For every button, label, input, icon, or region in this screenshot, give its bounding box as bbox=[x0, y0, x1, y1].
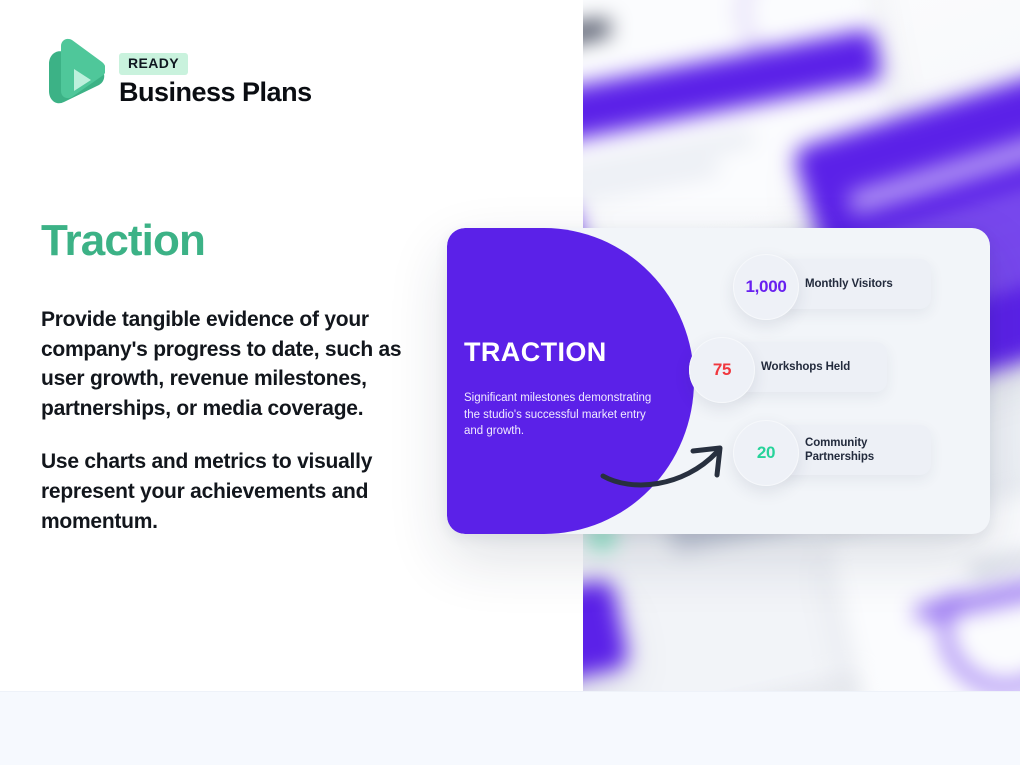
card-title: TRACTION bbox=[464, 338, 674, 366]
metric-label: Community Partnerships bbox=[805, 436, 931, 465]
body-paragraph-1: Provide tangible evidence of your compan… bbox=[41, 305, 433, 423]
bottom-strip bbox=[0, 691, 1020, 765]
metric-pill: Workshops Held bbox=[732, 342, 887, 392]
page-title: Traction bbox=[41, 218, 205, 264]
metric-circle: 20 bbox=[733, 420, 799, 486]
metric-item[interactable]: Workshops Held 75 bbox=[689, 337, 929, 397]
metric-item[interactable]: Monthly Visitors 1,000 bbox=[733, 254, 973, 314]
metrics-list: Monthly Visitors 1,000 Workshops Held 75… bbox=[733, 254, 973, 480]
metric-circle: 75 bbox=[689, 337, 755, 403]
metric-item[interactable]: Community Partnerships 20 bbox=[733, 420, 973, 480]
body-paragraph-2: Use charts and metrics to visually repre… bbox=[41, 447, 433, 536]
curved-arrow-up-right-icon bbox=[597, 418, 742, 498]
brand-lockup: READY Business Plans bbox=[41, 38, 312, 118]
metric-pill: Monthly Visitors bbox=[776, 259, 931, 309]
brand-text: READY Business Plans bbox=[119, 49, 312, 107]
metric-pill: Community Partnerships bbox=[776, 425, 931, 475]
body-copy: Provide tangible evidence of your compan… bbox=[41, 305, 433, 536]
slide-canvas: READY Business Plans Traction Provide ta… bbox=[0, 0, 1020, 765]
brand-title: Business Plans bbox=[119, 78, 312, 108]
metric-label: Monthly Visitors bbox=[805, 277, 893, 291]
play-triangle-logo-icon bbox=[41, 38, 105, 118]
metric-value: 20 bbox=[757, 443, 775, 463]
metric-label: Workshops Held bbox=[761, 360, 850, 374]
traction-card: TRACTION Significant milestones demonstr… bbox=[447, 228, 990, 534]
metric-value: 1,000 bbox=[745, 277, 786, 297]
metric-value: 75 bbox=[713, 360, 731, 380]
metric-circle: 1,000 bbox=[733, 254, 799, 320]
ready-badge: READY bbox=[119, 53, 188, 75]
